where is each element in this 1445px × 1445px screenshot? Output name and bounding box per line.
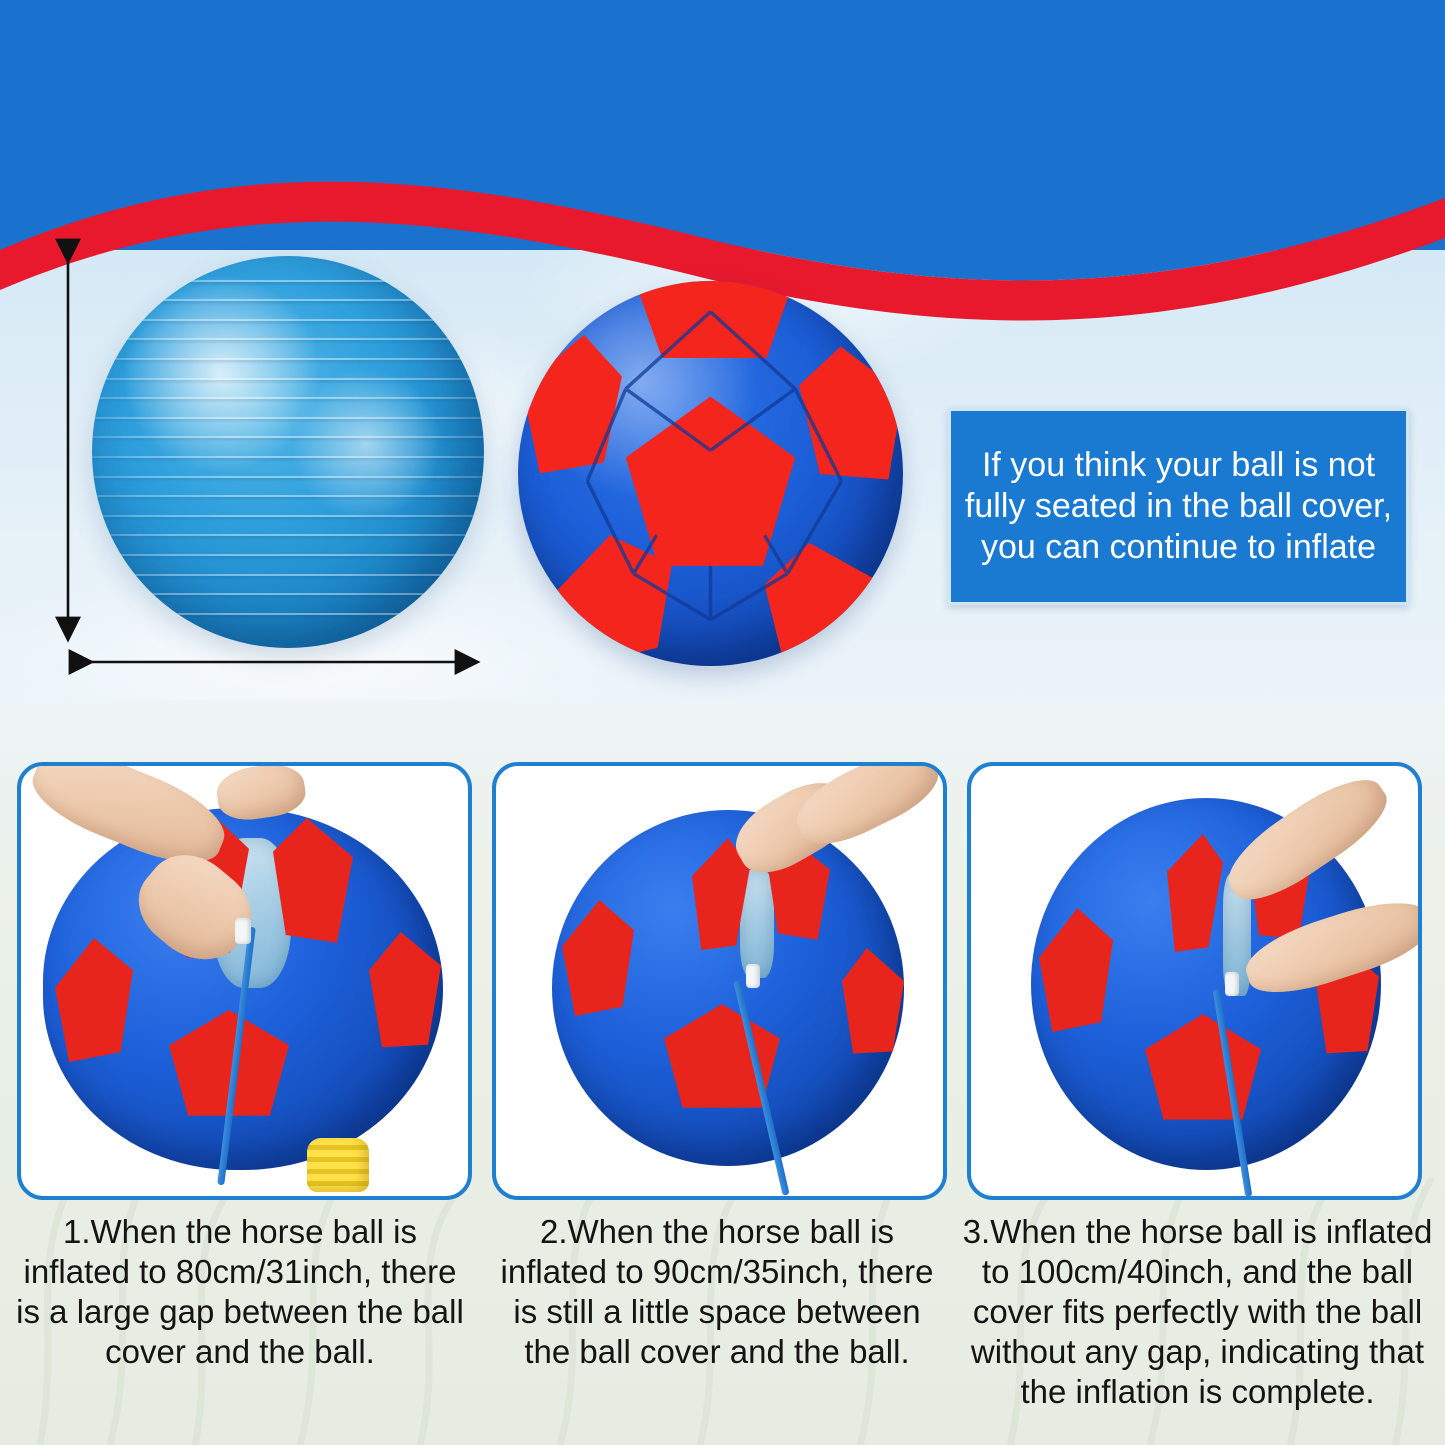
- photo-content: [21, 766, 468, 1196]
- dimension-arrows: [0, 0, 1445, 790]
- pump-nozzle: [235, 918, 251, 944]
- step-2-caption: 2.When the horse ball is inflated to 90c…: [487, 1212, 947, 1372]
- photo-content: [496, 766, 943, 1196]
- pump-nozzle: [746, 964, 760, 988]
- step-photo-panels: [0, 762, 1445, 1202]
- step-3-perfect-fit-photo: [967, 762, 1422, 1200]
- step-1-loose-cover-photo: [17, 762, 472, 1200]
- step-2-little-space-photo: [492, 762, 947, 1200]
- step-3-caption: 3.When the horse ball is inflated to 100…: [955, 1212, 1440, 1412]
- step-1-caption: 1.When the horse ball is inflated to 80c…: [10, 1212, 470, 1372]
- pump-nozzle: [1225, 972, 1239, 996]
- product-size-infographic: PRODUCT SIZE Our ball covers are made of…: [0, 0, 1445, 1445]
- photo-content: [971, 766, 1418, 1196]
- step-captions: 1.When the horse ball is inflated to 80c…: [0, 1212, 1445, 1445]
- foot-pump: [307, 1138, 369, 1192]
- inflate-tip-callout: If you think your ball is not fully seat…: [948, 408, 1409, 605]
- callout-text: If you think your ball is not fully seat…: [951, 445, 1406, 568]
